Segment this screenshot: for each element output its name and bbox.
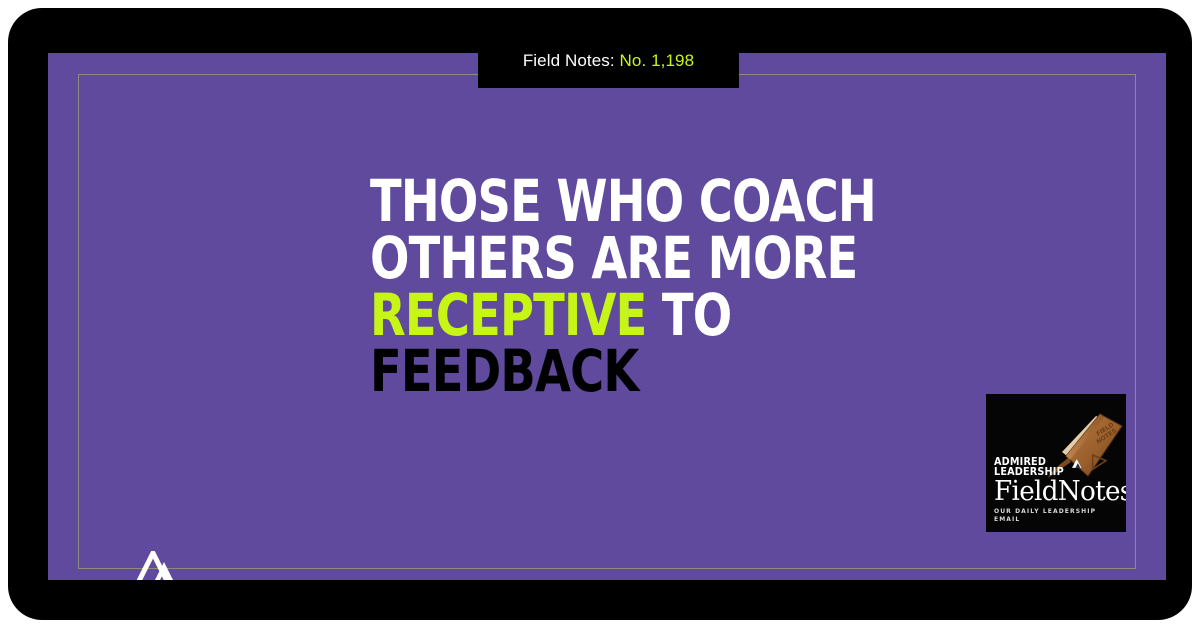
admired-leadership-triangle-icon [133,551,181,580]
watermark-logo [133,551,181,580]
brand-block: ADMIRED LEADERSHIP FieldNotes OUR DAILY … [994,457,1118,524]
headline-line-3-tail: TO [647,281,732,349]
headline-line-4: FEEDBACK [370,343,930,400]
issue-banner-number: No. 1,198 [620,51,695,70]
product-name: FieldNotes [994,478,1114,506]
issue-banner-text: Field Notes: No. 1,198 [523,51,694,71]
admired-leadership-text: ADMIRED LEADERSHIP [994,457,1064,477]
headline-line-3: RECEPTIVE TO [370,287,930,344]
fieldnotes-logo-card: FIELD NOTES ADMIRED LEADERSHIP FieldNote… [986,394,1126,532]
issue-banner: Field Notes: No. 1,198 [478,8,739,88]
product-tagline: OUR DAILY LEADERSHIP EMAIL [994,508,1118,524]
triangle-logo-icon [1072,458,1083,469]
headline-line-2: OTHERS ARE MORE [370,230,930,287]
device-frame: THOSE WHO COACH OTHERS ARE MORE RECEPTIV… [8,8,1192,620]
headline: THOSE WHO COACH OTHERS ARE MORE RECEPTIV… [370,173,930,400]
admired-leadership-lockup: ADMIRED LEADERSHIP [994,457,1118,477]
issue-banner-label: Field Notes: [523,51,615,70]
headline-line-1: THOSE WHO COACH [370,173,930,230]
